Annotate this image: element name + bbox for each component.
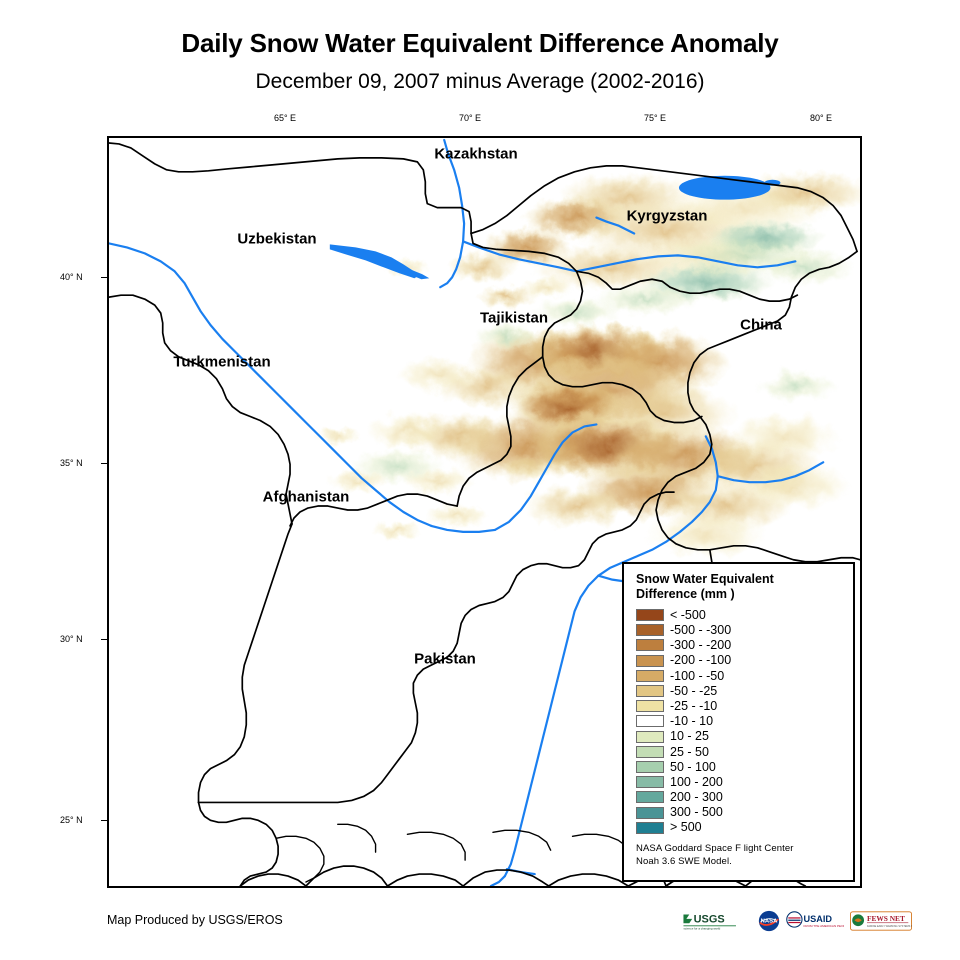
latitude-label: 25° N xyxy=(60,815,83,825)
legend-row: < -500 xyxy=(636,608,843,623)
legend-credit-line1: NASA Goddard Space F light Center xyxy=(636,842,843,855)
longitude-label: 70° E xyxy=(459,113,481,123)
latitude-label: 30° N xyxy=(60,634,83,644)
legend-title-line2: Difference (mm ) xyxy=(636,587,843,602)
legend-swatch xyxy=(636,746,664,758)
legend-credit-line2: Noah 3.6 SWE Model. xyxy=(636,855,843,868)
usgs-logo: USGS science for a changing world xyxy=(682,910,752,932)
legend-title-line1: Snow Water Equivalent xyxy=(636,572,843,587)
legend-label: -500 - -300 xyxy=(670,624,731,637)
legend-swatch xyxy=(636,731,664,743)
map-page: Daily Snow Water Equivalent Difference A… xyxy=(0,0,960,960)
legend-label: < -500 xyxy=(670,609,706,622)
usaid-logo: USAID FROM THE AMERICAN PEOPLE xyxy=(786,910,844,932)
legend-swatch xyxy=(636,776,664,788)
legend-label: -25 - -10 xyxy=(670,700,717,713)
latitude-label: 40° N xyxy=(60,272,83,282)
fewsnet-logo: FEWS NET FAMINE EARLY WARNING SYSTEMS NE… xyxy=(850,910,912,932)
legend-swatch xyxy=(636,670,664,682)
longitude-label: 65° E xyxy=(274,113,296,123)
legend-row: -10 - 10 xyxy=(636,714,843,729)
legend-label: 25 - 50 xyxy=(670,746,709,759)
legend-swatch xyxy=(636,822,664,834)
legend-label: 300 - 500 xyxy=(670,806,723,819)
legend-row: 200 - 300 xyxy=(636,790,843,805)
legend-swatch xyxy=(636,685,664,697)
page-title: Daily Snow Water Equivalent Difference A… xyxy=(0,28,960,59)
legend-row: 300 - 500 xyxy=(636,805,843,820)
svg-text:FAMINE EARLY WARNING SYSTEMS N: FAMINE EARLY WARNING SYSTEMS NETWORK xyxy=(867,925,912,928)
legend-row: 25 - 50 xyxy=(636,744,843,759)
legend-label: -300 - -200 xyxy=(670,639,731,652)
legend-row: -200 - -100 xyxy=(636,653,843,668)
legend-swatch xyxy=(636,807,664,819)
legend-swatch xyxy=(636,655,664,667)
legend-swatch xyxy=(636,761,664,773)
legend-row: 10 - 25 xyxy=(636,729,843,744)
legend-label: > 500 xyxy=(670,821,702,834)
longitude-label: 80° E xyxy=(810,113,832,123)
legend-row: 100 - 200 xyxy=(636,775,843,790)
longitude-label: 75° E xyxy=(644,113,666,123)
svg-text:FEWS NET: FEWS NET xyxy=(867,914,905,923)
legend-credit: NASA Goddard Space F light Center Noah 3… xyxy=(636,842,843,868)
legend-row: -50 - -25 xyxy=(636,683,843,698)
svg-text:USGS: USGS xyxy=(694,913,725,925)
legend-title: Snow Water Equivalent Difference (mm ) xyxy=(636,572,843,603)
legend-label: 100 - 200 xyxy=(670,776,723,789)
svg-text:FROM THE AMERICAN PEOPLE: FROM THE AMERICAN PEOPLE xyxy=(804,924,844,928)
legend-label: -200 - -100 xyxy=(670,654,731,667)
legend-label: -10 - 10 xyxy=(670,715,713,728)
legend-row: -300 - -200 xyxy=(636,638,843,653)
legend-label: 10 - 25 xyxy=(670,730,709,743)
latitude-label: 35° N xyxy=(60,458,83,468)
legend-label: 200 - 300 xyxy=(670,791,723,804)
nasa-logo: NASA xyxy=(758,910,780,932)
legend-row: 50 - 100 xyxy=(636,759,843,774)
page-subtitle: December 09, 2007 minus Average (2002-20… xyxy=(0,70,960,94)
legend-swatch xyxy=(636,700,664,712)
legend-label: 50 - 100 xyxy=(670,761,716,774)
legend-label: -100 - -50 xyxy=(670,670,724,683)
logo-strip: USGS science for a changing world NASA U… xyxy=(682,909,912,933)
legend-row: -500 - -300 xyxy=(636,623,843,638)
legend-swatch xyxy=(636,609,664,621)
legend-swatch xyxy=(636,624,664,636)
svg-text:USAID: USAID xyxy=(804,914,833,924)
legend-row: -25 - -10 xyxy=(636,699,843,714)
legend-row: -100 - -50 xyxy=(636,668,843,683)
legend-label: -50 - -25 xyxy=(670,685,717,698)
legend[interactable]: Snow Water Equivalent Difference (mm ) <… xyxy=(622,562,855,882)
legend-swatch xyxy=(636,715,664,727)
legend-swatch xyxy=(636,791,664,803)
svg-text:NASA: NASA xyxy=(761,919,778,925)
legend-items: < -500-500 - -300-300 - -200-200 - -100-… xyxy=(636,608,843,836)
legend-swatch xyxy=(636,639,664,651)
legend-row: > 500 xyxy=(636,820,843,835)
footer-credit: Map Produced by USGS/EROS xyxy=(107,913,283,927)
svg-text:science for a changing world: science for a changing world xyxy=(683,927,720,931)
